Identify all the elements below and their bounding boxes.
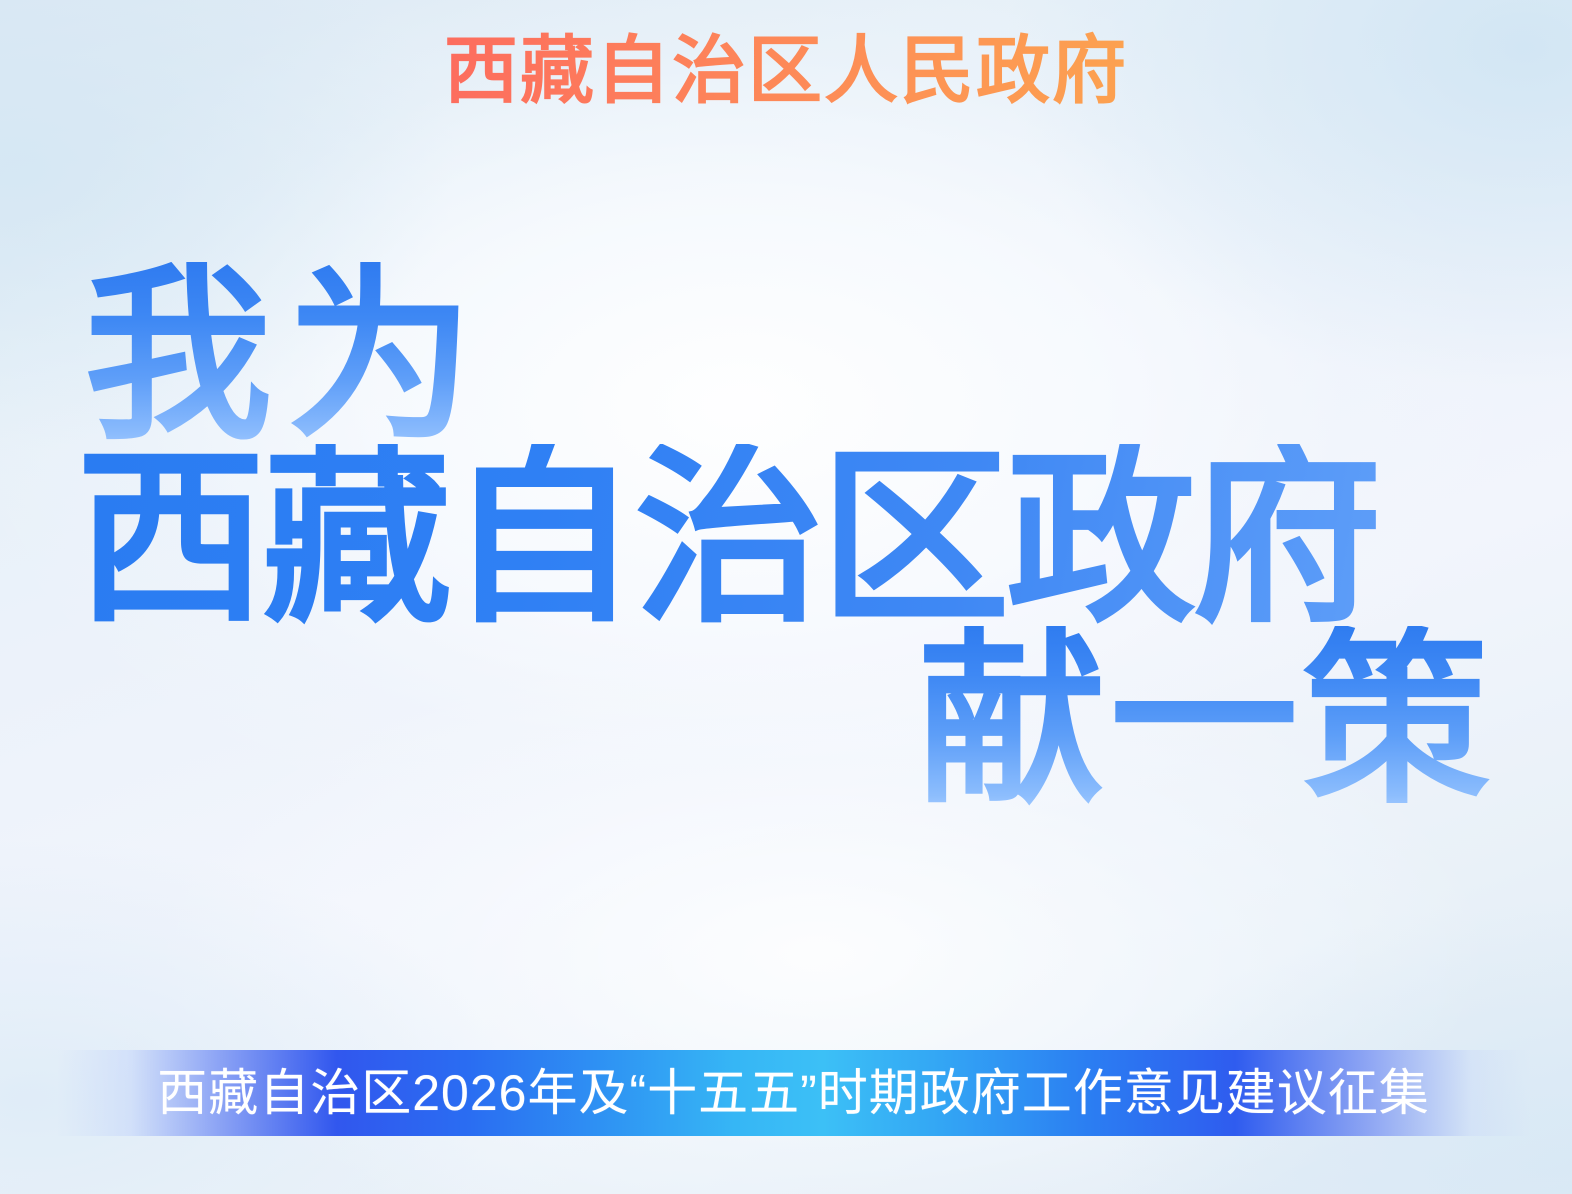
organization-title: 西藏自治区人民政府	[0, 28, 1572, 114]
poster-canvas: 西藏自治区人民政府 我为 西藏自治区政府 献一策 西藏自治区2026年及“十五五…	[0, 0, 1572, 1194]
headline-block: 我为 西藏自治区政府 献一策	[0, 262, 1572, 814]
headline-line-1: 我为	[84, 262, 1500, 450]
headline-line-3: 献一策	[72, 626, 1494, 814]
headline-line-2: 西藏自治区政府	[76, 444, 1500, 634]
footer-banner-text: 西藏自治区2026年及“十五五”时期政府工作意见建议征集	[157, 1067, 1430, 1119]
footer-banner: 西藏自治区2026年及“十五五”时期政府工作意见建议征集	[57, 1050, 1530, 1136]
